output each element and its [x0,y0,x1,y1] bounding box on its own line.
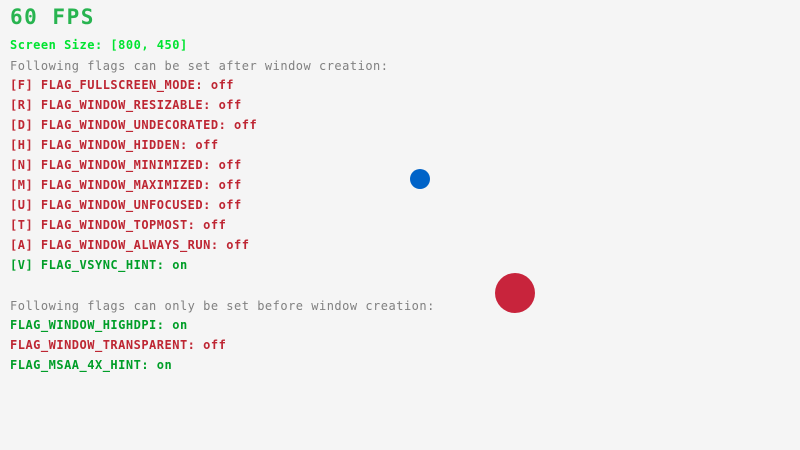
flag-row[interactable]: [M] FLAG_WINDOW_MAXIMIZED: off [10,179,242,191]
circle-red-shape [495,273,535,313]
app-canvas[interactable]: 60 FPS Screen Size: [800, 450] Following… [0,0,800,450]
flag-row[interactable]: [H] FLAG_WINDOW_HIDDEN: off [10,139,219,151]
screen-size-readout: Screen Size: [800, 450] [10,39,188,51]
flag-row[interactable]: FLAG_WINDOW_HIGHDPI: on [10,319,188,331]
flag-row[interactable]: [R] FLAG_WINDOW_RESIZABLE: off [10,99,242,111]
flag-row[interactable]: [D] FLAG_WINDOW_UNDECORATED: off [10,119,257,131]
flag-row[interactable]: FLAG_WINDOW_TRANSPARENT: off [10,339,226,351]
startup-flags-header: Following flags can only be set before w… [10,300,435,312]
flag-row[interactable]: [A] FLAG_WINDOW_ALWAYS_RUN: off [10,239,249,251]
circle-blue-shape [410,169,430,189]
runtime-flags-header: Following flags can be set after window … [10,60,389,72]
flag-row[interactable]: FLAG_MSAA_4X_HINT: on [10,359,172,371]
flag-row[interactable]: [T] FLAG_WINDOW_TOPMOST: off [10,219,226,231]
flag-row[interactable]: [V] FLAG_VSYNC_HINT: on [10,259,188,271]
flag-row[interactable]: [N] FLAG_WINDOW_MINIMIZED: off [10,159,242,171]
fps-counter: 60 FPS [10,7,95,28]
flag-row[interactable]: [F] FLAG_FULLSCREEN_MODE: off [10,79,234,91]
flag-row[interactable]: [U] FLAG_WINDOW_UNFOCUSED: off [10,199,242,211]
